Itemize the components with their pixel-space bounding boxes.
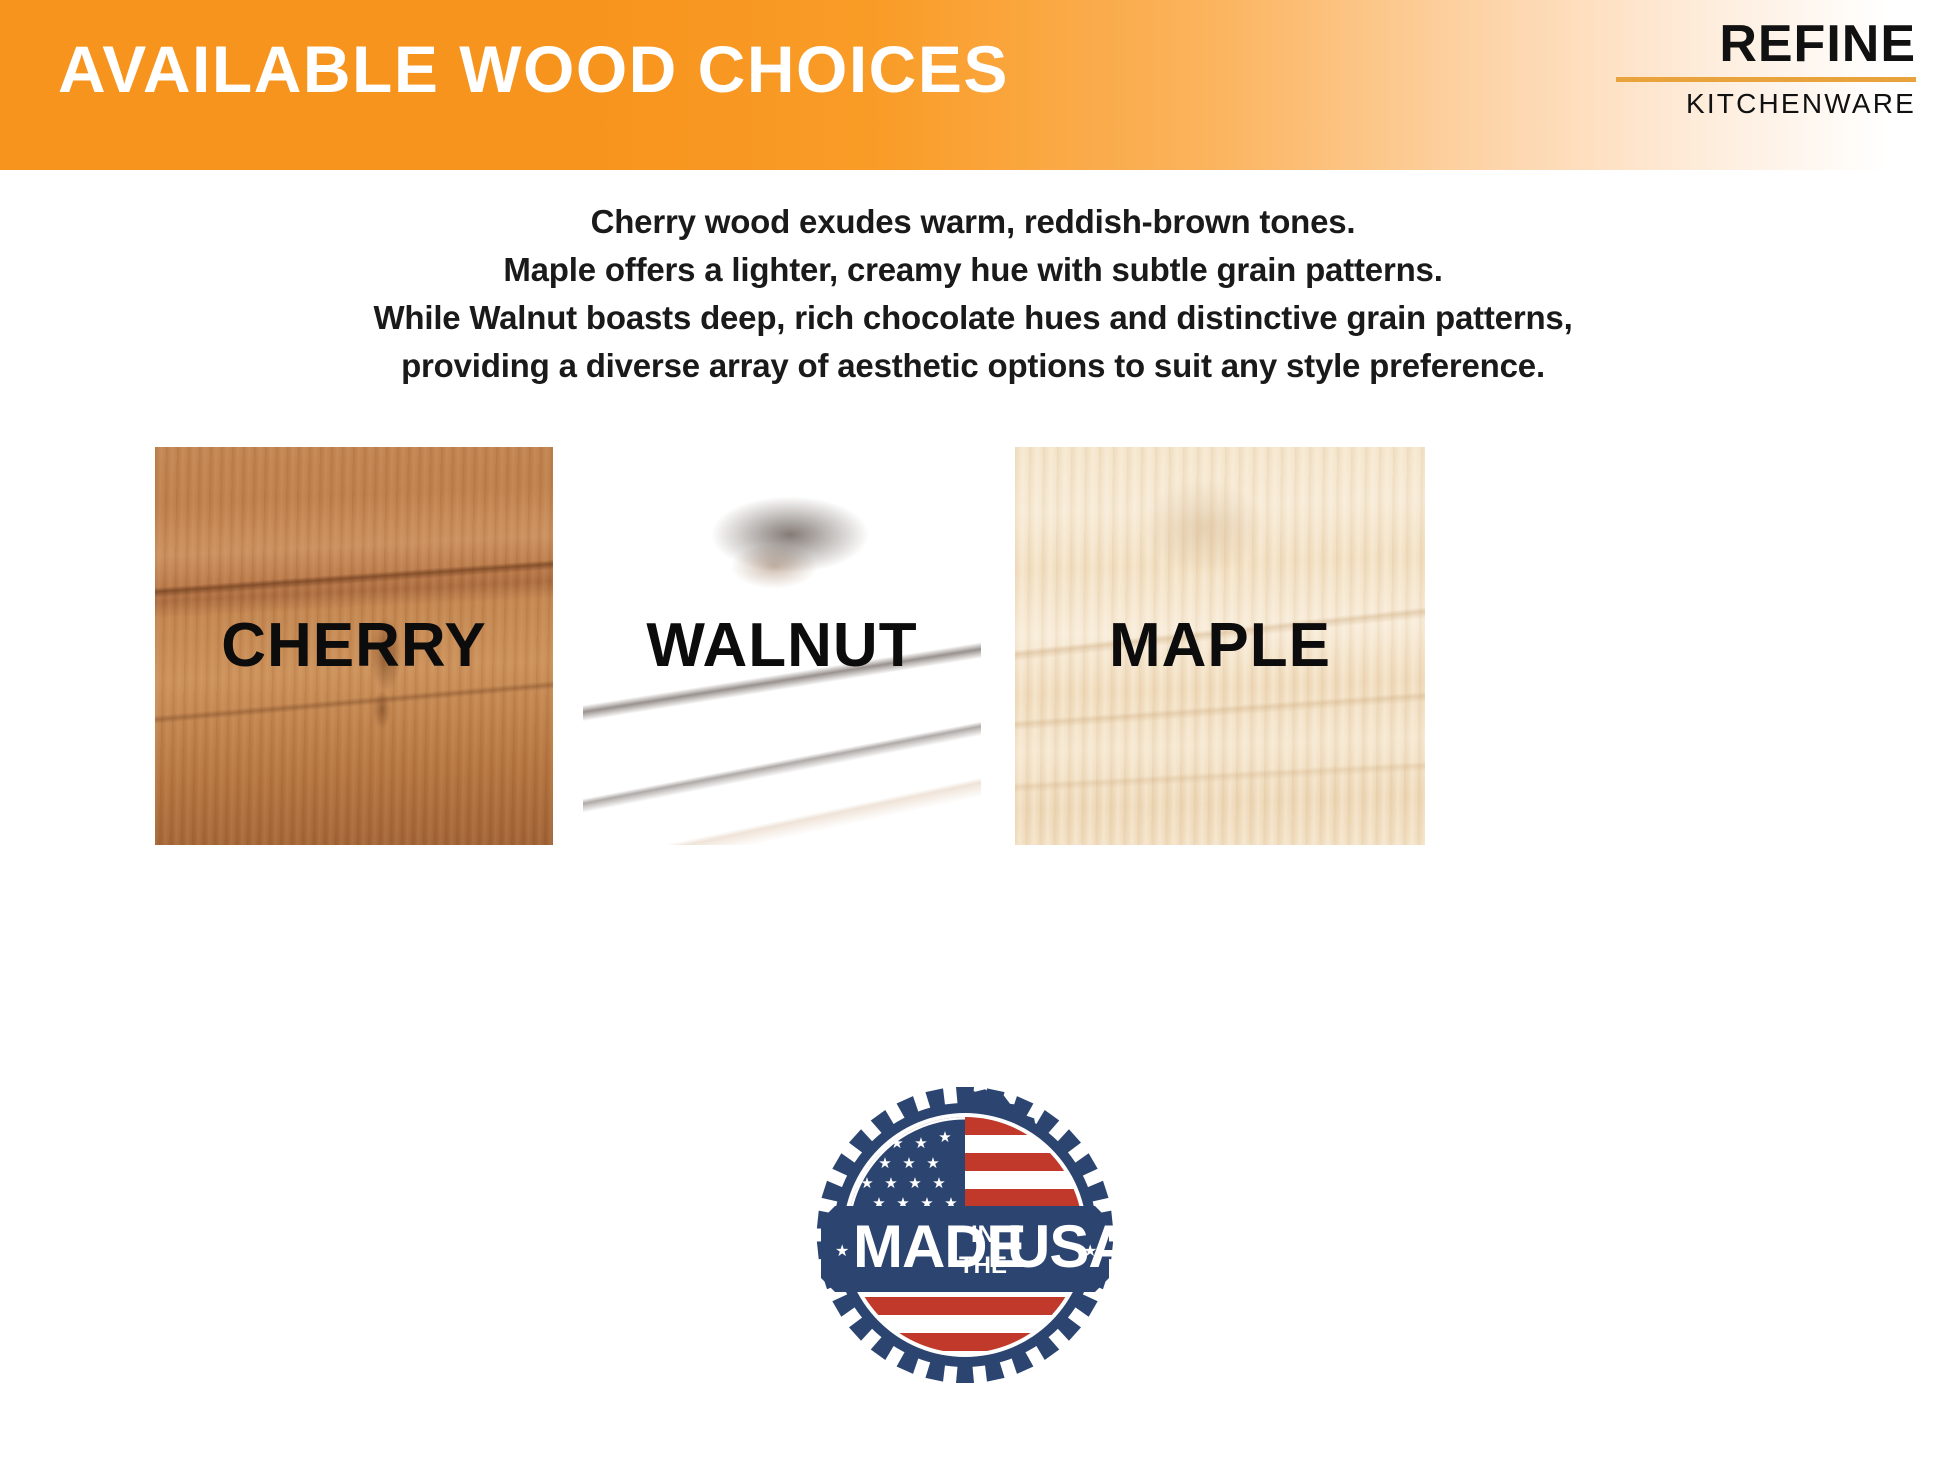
svg-text:★: ★ [908,1174,921,1192]
wood-swatch-label: CHERRY [155,615,553,677]
intro-line-4: providing a diverse array of aesthetic o… [0,342,1946,390]
wood-swatch-label: MAPLE [1015,615,1425,677]
badge-usa-text: USA [1007,1213,1115,1280]
page-title: AVAILABLE WOOD CHOICES [58,36,1009,102]
intro-line-2: Maple offers a lighter, creamy hue with … [0,246,1946,294]
intro-line-3: While Walnut boasts deep, rich chocolate… [0,294,1946,342]
badge-the-text: THE [959,1252,1007,1279]
infographic-page: AVAILABLE WOOD CHOICES REFINE KITCHENWAR… [0,0,1946,1460]
brand-subtitle: KITCHENWARE [1616,90,1916,118]
made-in-usa-badge: ★ ★ ★ ★ ★ ★ ★ ★ ★ ★ ★ ★ ★ ★ ★ [815,1070,1115,1415]
svg-text:★: ★ [932,1174,945,1192]
wood-swatch-row: CHERRY WALNUT MAPLE [0,447,1946,847]
svg-text:★: ★ [914,1134,927,1152]
wood-swatch-walnut[interactable]: WALNUT [583,447,981,845]
wood-swatch-cherry[interactable]: CHERRY [155,447,553,845]
brand-name: REFINE [1616,18,1916,70]
svg-text:★: ★ [938,1128,951,1146]
badge-in-text: IN [971,1221,995,1248]
badge-banner: ★ ★ MADE IN THE USA [821,1206,1115,1292]
wood-swatch-maple[interactable]: MAPLE [1015,447,1425,845]
banner-star-left: ★ [835,1241,849,1260]
brand-logo: REFINE KITCHENWARE [1616,18,1916,118]
svg-text:★: ★ [878,1154,891,1172]
svg-text:★: ★ [884,1174,897,1192]
brand-divider [1616,77,1916,82]
page-header: AVAILABLE WOOD CHOICES REFINE KITCHENWAR… [0,0,1946,170]
wood-swatch-label: WALNUT [583,615,981,677]
intro-paragraph: Cherry wood exudes warm, reddish-brown t… [0,198,1946,390]
svg-text:★: ★ [902,1154,915,1172]
svg-text:★: ★ [926,1154,939,1172]
intro-line-1: Cherry wood exudes warm, reddish-brown t… [0,198,1946,246]
